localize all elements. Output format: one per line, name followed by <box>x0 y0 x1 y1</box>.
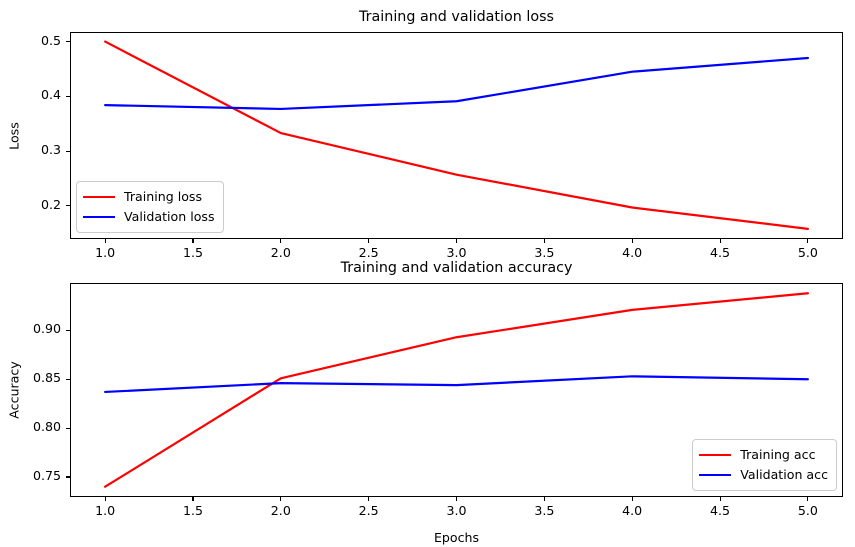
matplotlib-figure: Training and validation loss0.20.30.40.5… <box>0 0 855 547</box>
plot-area-0: 0.20.30.40.51.01.52.02.53.03.54.04.55.0T… <box>70 32 843 239</box>
xtick-mark <box>368 239 369 243</box>
axes-title-0: Training and validation loss <box>70 10 843 24</box>
series-line-1 <box>105 376 808 392</box>
xtick-mark <box>105 239 106 243</box>
xtick-label: 1.5 <box>163 247 223 260</box>
xtick-label: 3.0 <box>427 247 487 260</box>
xtick-mark <box>807 239 808 243</box>
xtick-label: 1.0 <box>75 505 135 518</box>
plot-area-1: 0.750.800.850.901.01.52.02.53.03.54.04.5… <box>70 283 843 497</box>
xtick-mark <box>720 239 721 243</box>
legend-line-swatch-icon <box>83 216 115 218</box>
xtick-label: 4.0 <box>602 505 662 518</box>
legend-label: Training acc <box>740 449 815 462</box>
xtick-label: 4.5 <box>690 505 750 518</box>
xtick-mark <box>456 239 457 243</box>
xtick-label: 1.5 <box>163 505 223 518</box>
series-line-1 <box>105 58 808 109</box>
xtick-mark <box>720 497 721 501</box>
xtick-label: 2.5 <box>339 247 399 260</box>
xtick-mark <box>192 239 193 243</box>
xtick-label: 1.0 <box>75 247 135 260</box>
legend-1[interactable]: Training accValidation acc <box>692 439 837 491</box>
xtick-label: 2.0 <box>251 505 311 518</box>
xtick-mark <box>807 497 808 501</box>
legend-line-swatch-icon <box>699 474 731 476</box>
xtick-label: 3.5 <box>514 505 574 518</box>
ytick-label: 0.90 <box>1 323 61 336</box>
legend-0[interactable]: Training lossValidation loss <box>76 181 224 233</box>
xtick-mark <box>544 497 545 501</box>
legend-entry: Validation loss <box>83 207 215 227</box>
xtick-label: 4.5 <box>690 247 750 260</box>
xtick-label: 3.0 <box>427 505 487 518</box>
xtick-label: 2.0 <box>251 247 311 260</box>
y-axis-label-1: Accuracy <box>7 361 22 419</box>
xtick-label: 3.5 <box>514 247 574 260</box>
xtick-label: 5.0 <box>778 247 838 260</box>
xtick-mark <box>280 239 281 243</box>
y-axis-label-0: Loss <box>7 122 22 150</box>
legend-label: Validation loss <box>124 211 215 224</box>
xtick-mark <box>368 497 369 501</box>
xtick-label: 5.0 <box>778 505 838 518</box>
legend-entry: Training loss <box>83 187 215 207</box>
ytick-label: 0.5 <box>1 35 61 48</box>
legend-label: Validation acc <box>740 469 828 482</box>
xtick-label: 4.0 <box>602 247 662 260</box>
ytick-label: 0.75 <box>1 470 61 483</box>
legend-line-swatch-icon <box>83 196 115 198</box>
axes-title-1: Training and validation accuracy <box>70 261 843 275</box>
ytick-label: 0.2 <box>1 199 61 212</box>
x-axis-label-1: Epochs <box>70 530 843 545</box>
legend-entry: Validation acc <box>699 465 828 485</box>
xtick-label: 2.5 <box>339 505 399 518</box>
ytick-label: 0.4 <box>1 89 61 102</box>
xtick-mark <box>192 497 193 501</box>
xtick-mark <box>105 497 106 501</box>
xtick-mark <box>280 497 281 501</box>
xtick-mark <box>632 239 633 243</box>
xtick-mark <box>632 497 633 501</box>
xtick-mark <box>456 497 457 501</box>
legend-line-swatch-icon <box>699 454 731 456</box>
ytick-label: 0.80 <box>1 421 61 434</box>
legend-label: Training loss <box>124 191 202 204</box>
legend-entry: Training acc <box>699 445 828 465</box>
xtick-mark <box>544 239 545 243</box>
